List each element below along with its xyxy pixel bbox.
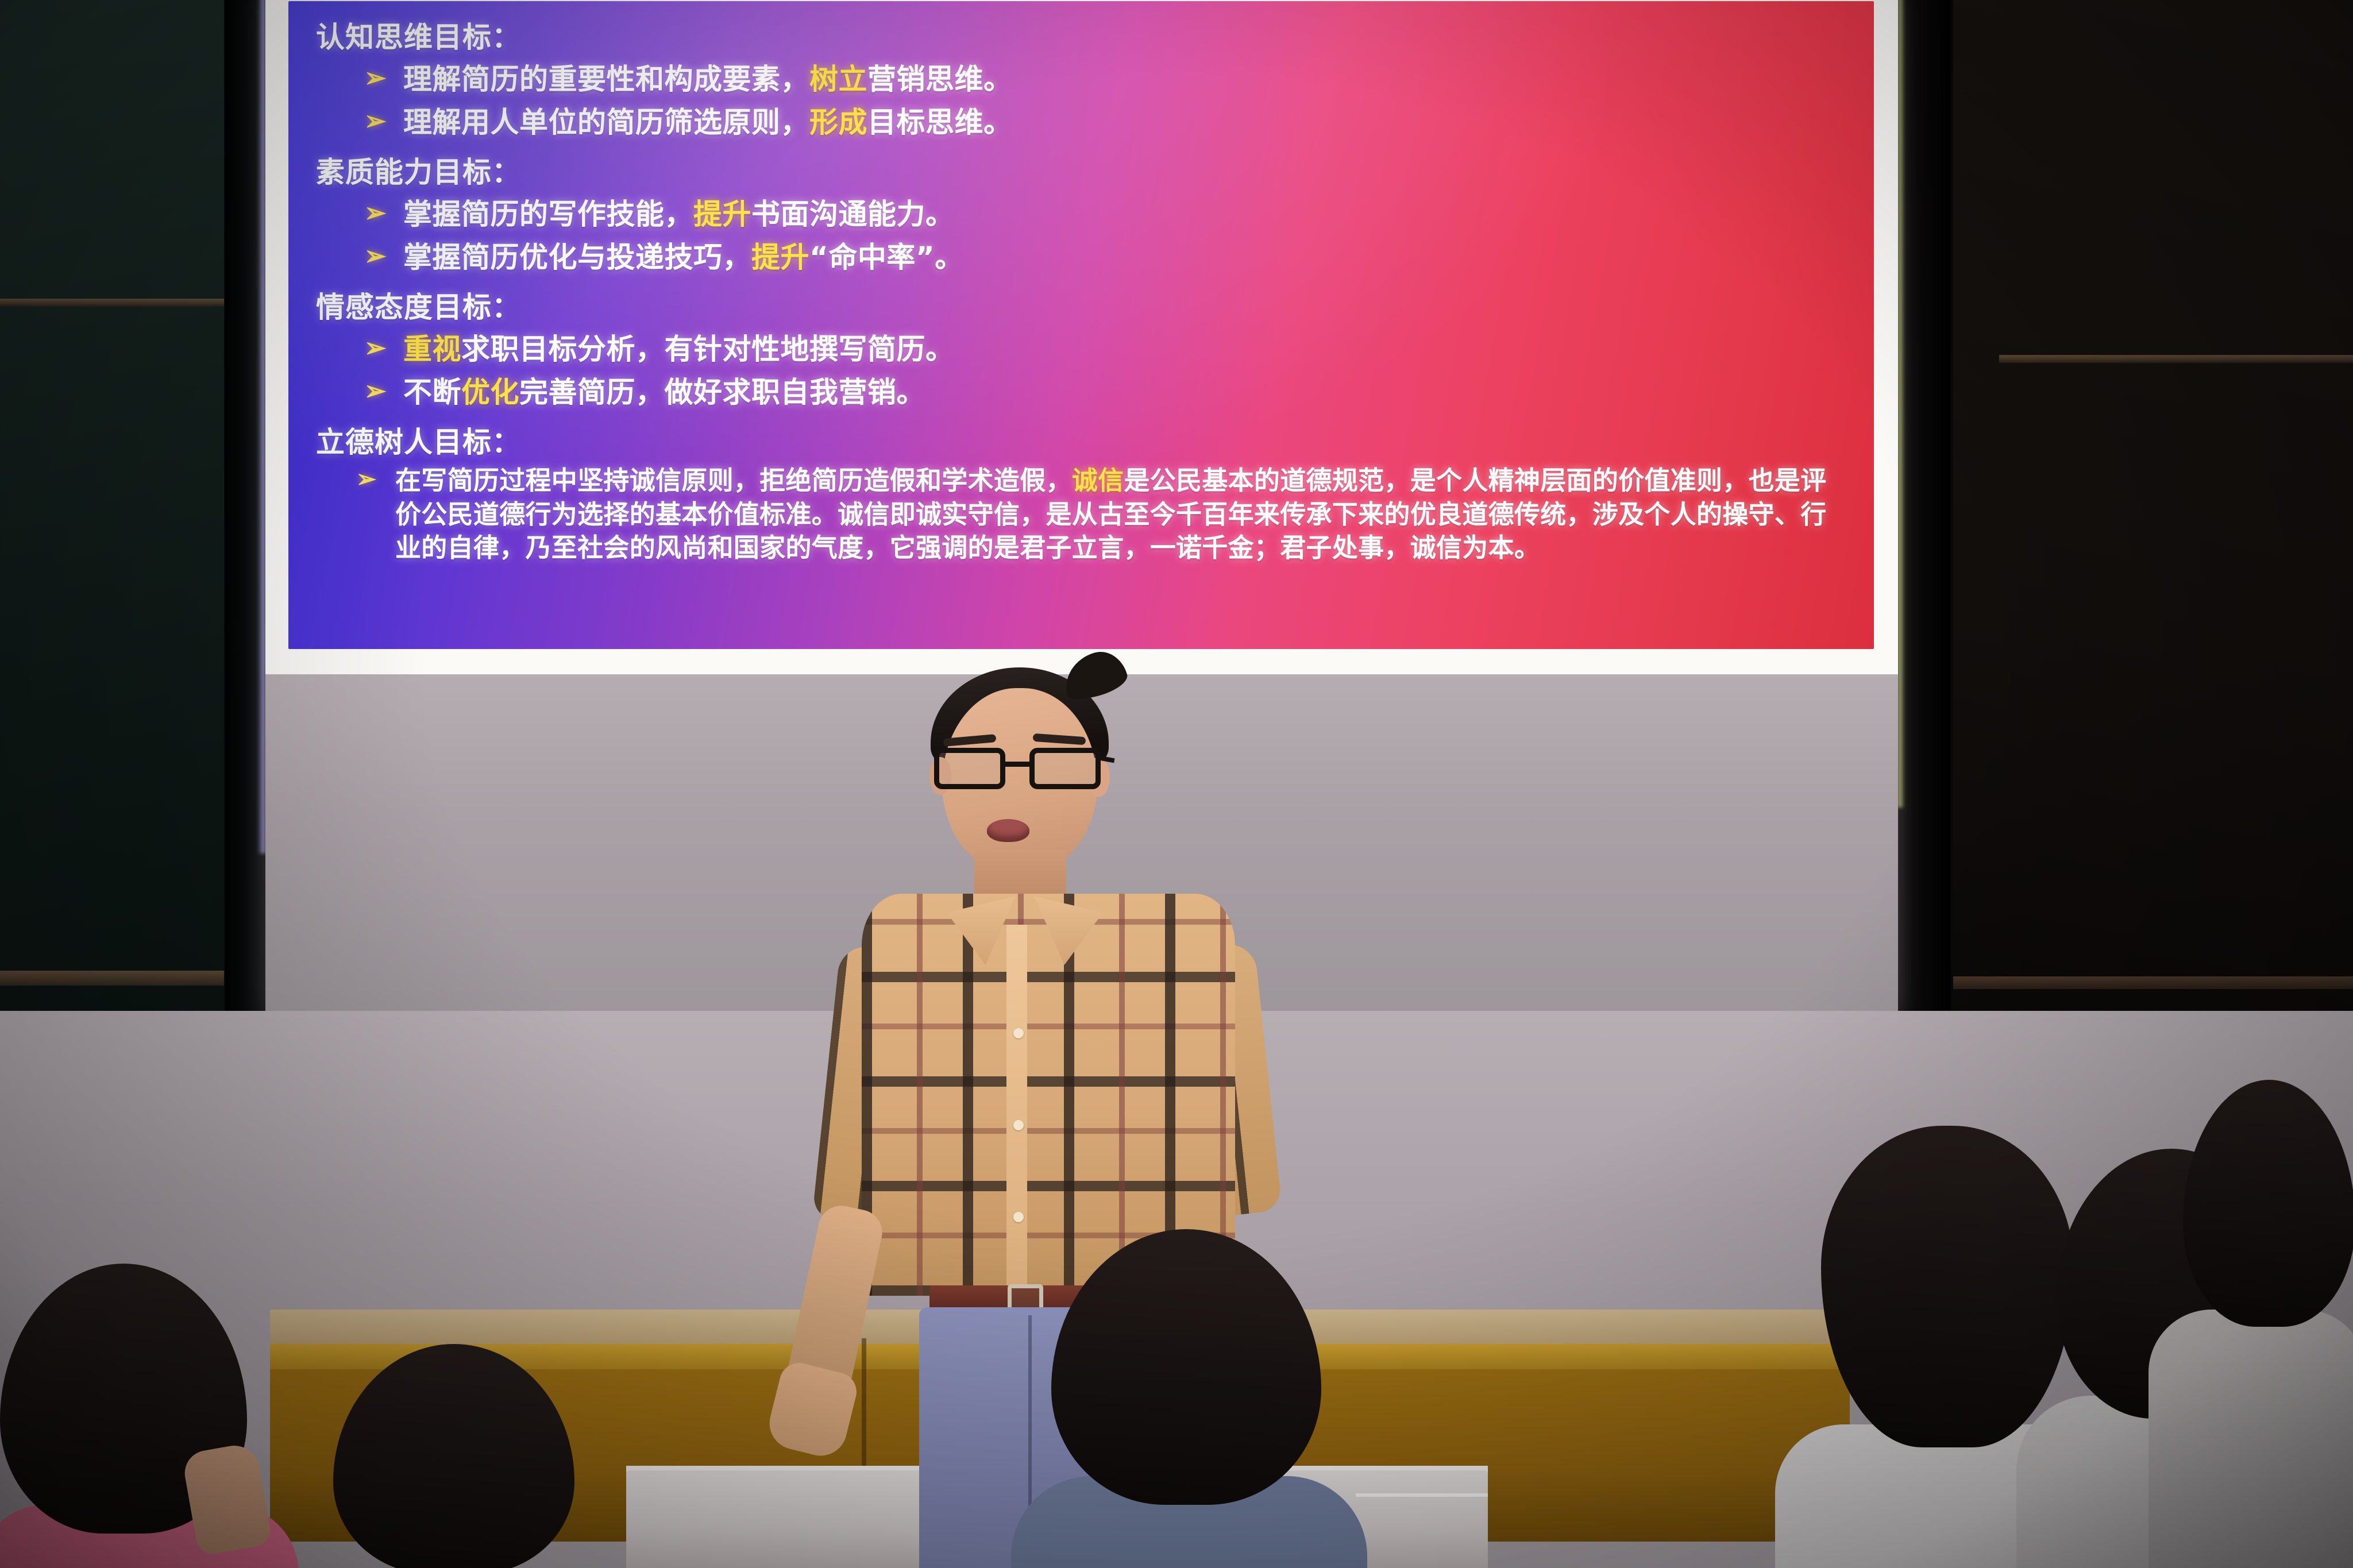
classroom-scene: 认知思维目标：➢理解简历的重要性和构成要素，树立营销思维。➢理解用人单位的简历筛… <box>0 0 2353 1568</box>
slide-group-heading: 认知思维目标： <box>311 21 1851 55</box>
shirt-button <box>1013 1028 1024 1038</box>
plain-text: 目标思维。 <box>867 106 1013 139</box>
slide-group-heading: 素质能力目标： <box>311 156 1851 190</box>
bullet-text: 掌握简历优化与投递技巧，提升“命中率”。 <box>403 240 964 276</box>
bullet-arrow-icon: ➢ <box>364 61 394 95</box>
slide-bullet: ➢不断优化完善简历，做好求职自我营销。 <box>311 374 1851 411</box>
slide-bullet: ➢在写简历过程中坚持诚信原则，拒绝简历造假和学术造假，诚信是公民基本的道德规范，… <box>311 464 1851 565</box>
teacher-mouth <box>987 819 1029 842</box>
plain-text: “命中率”。 <box>809 241 964 274</box>
plain-text: 营销思维。 <box>867 63 1013 96</box>
slide-bullet: ➢重视求职目标分析，有针对性地撰写简历。 <box>311 331 1851 368</box>
plain-text: 理解简历的重要性和构成要素， <box>403 63 809 96</box>
highlighted-text: 形成 <box>809 106 867 139</box>
highlighted-text: 诚信 <box>1072 465 1124 496</box>
plain-text: 掌握简历的写作技能， <box>403 198 693 231</box>
glasses-icon <box>934 748 1105 790</box>
plain-text: 不断 <box>403 376 461 409</box>
slide-bullet: ➢理解用人单位的简历筛选原则，形成目标思维。 <box>311 105 1851 141</box>
highlighted-text: 提升 <box>751 241 809 274</box>
plain-text: 求职目标分析，有针对性地撰写简历。 <box>461 333 955 366</box>
slide-group: 素质能力目标：➢掌握简历的写作技能，提升书面沟通能力。➢掌握简历优化与投递技巧，… <box>311 156 1851 276</box>
bullet-text: 重视求职目标分析，有针对性地撰写简历。 <box>403 331 955 368</box>
highlighted-text: 树立 <box>809 63 867 96</box>
bullet-arrow-icon: ➢ <box>364 105 394 138</box>
shirt-button <box>1013 1120 1024 1130</box>
bullet-text: 掌握简历的写作技能，提升书面沟通能力。 <box>403 196 955 233</box>
slide-group: 认知思维目标：➢理解简历的重要性和构成要素，树立营销思维。➢理解用人单位的简历筛… <box>311 21 1851 141</box>
slide-bullet: ➢理解简历的重要性和构成要素，树立营销思维。 <box>311 61 1851 98</box>
bullet-arrow-icon: ➢ <box>364 196 394 230</box>
bullet-text: 理解简历的重要性和构成要素，树立营销思维。 <box>403 61 1013 98</box>
bullet-text: 在写简历过程中坚持诚信原则，拒绝简历造假和学术造假，诚信是公民基本的道德规范，是… <box>395 464 1851 565</box>
highlighted-text: 提升 <box>693 198 751 231</box>
slide-group-heading: 情感态度目标： <box>311 291 1851 325</box>
student-front-center <box>1005 1229 1373 1568</box>
student-front-left-2 <box>299 1344 609 1568</box>
chalk-rail-right-lower <box>1942 976 2353 989</box>
student-right-2 <box>2160 1080 2353 1568</box>
student-head <box>333 1344 574 1568</box>
shirt-button <box>1013 1212 1024 1222</box>
screen-edge-glow-left <box>257 0 265 853</box>
glasses-lens-right <box>1029 748 1101 789</box>
student-head <box>1051 1229 1321 1505</box>
bullet-arrow-icon: ➢ <box>364 374 394 408</box>
bullet-arrow-icon: ➢ <box>356 464 386 495</box>
chalk-rail-left <box>0 299 241 307</box>
student-head <box>2183 1080 2353 1327</box>
plain-text: 理解用人单位的简历筛选原则， <box>403 106 809 139</box>
plain-text: 在写简历过程中坚持诚信原则，拒绝简历造假和学术造假， <box>395 465 1072 496</box>
highlighted-text: 重视 <box>403 333 461 366</box>
teacher-hair-tuft <box>1058 646 1131 704</box>
glasses-lens-left <box>934 748 1005 789</box>
screen-edge-glow-right <box>1898 0 1905 808</box>
chalk-rail-right <box>1999 355 2353 363</box>
slide-content: 认知思维目标：➢理解简历的重要性和构成要素，树立营销思维。➢理解用人单位的简历筛… <box>311 21 1851 565</box>
plain-text: 掌握简历优化与投递技巧， <box>403 241 751 274</box>
slide-group: 立德树人目标：➢在写简历过程中坚持诚信原则，拒绝简历造假和学术造假，诚信是公民基… <box>311 426 1851 565</box>
slide-group-heading: 立德树人目标： <box>311 426 1851 459</box>
slide-bullet: ➢掌握简历优化与投递技巧，提升“命中率”。 <box>311 240 1851 276</box>
slide-bullet: ➢掌握简历的写作技能，提升书面沟通能力。 <box>311 196 1851 233</box>
bullet-arrow-icon: ➢ <box>364 240 394 273</box>
slide-group: 情感态度目标：➢重视求职目标分析，有针对性地撰写简历。➢不断优化完善简历，做好求… <box>311 291 1851 411</box>
lectern-highlight <box>1356 1493 1488 1497</box>
student-shirt <box>2148 1310 2353 1568</box>
bullet-text: 理解用人单位的简历筛选原则，形成目标思维。 <box>403 105 1013 141</box>
plain-text: 完善简历，做好求职自我营销。 <box>519 376 925 409</box>
glasses-temple <box>1100 756 1115 763</box>
blackboard-right <box>1942 0 2353 1034</box>
highlighted-text: 优化 <box>461 376 519 409</box>
bullet-text: 不断优化完善简历，做好求职自我营销。 <box>403 374 925 411</box>
presentation-slide: 认知思维目标：➢理解简历的重要性和构成要素，树立营销思维。➢理解用人单位的简历筛… <box>288 1 1874 649</box>
glasses-bridge <box>1004 762 1033 767</box>
bullet-arrow-icon: ➢ <box>364 331 394 365</box>
plain-text: 书面沟通能力。 <box>751 198 955 231</box>
